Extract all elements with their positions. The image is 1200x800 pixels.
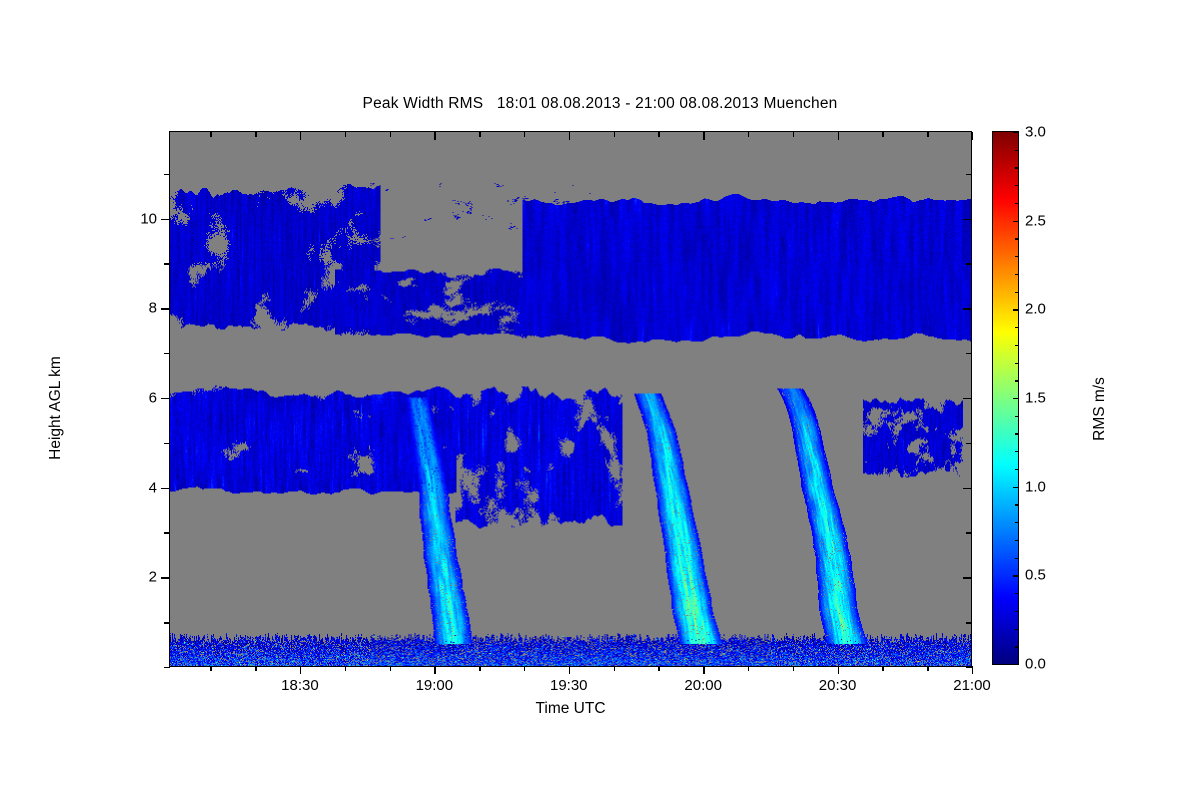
x-minor-tick	[524, 666, 525, 671]
y-minor-tick	[164, 353, 170, 354]
x-minor-tick	[614, 666, 615, 671]
y-minor-tick-right	[966, 667, 972, 668]
colorbar-tick-label: 1.0	[1025, 478, 1046, 495]
x-tick-label: 20:30	[819, 677, 857, 694]
colorbar-minor-tick	[1015, 292, 1019, 293]
x-tick-label: 19:00	[416, 677, 454, 694]
y-tick-label: 8	[123, 300, 157, 317]
x-tick-label: 20:00	[684, 677, 722, 694]
colorbar-major-tick	[1013, 309, 1019, 310]
y-major-tick-right	[963, 219, 972, 220]
colorbar-minor-tick	[1015, 256, 1019, 257]
colorbar-minor-tick	[1015, 504, 1019, 505]
x-minor-tick	[882, 666, 883, 671]
colorbar-minor-tick	[1015, 611, 1019, 612]
y-major-tick	[161, 219, 170, 220]
x-minor-tick-top	[658, 132, 659, 137]
x-minor-tick-top	[524, 132, 525, 137]
x-minor-tick-top	[882, 132, 883, 137]
chart-title: Peak Width RMS 18:01 08.08.2013 - 21:00 …	[0, 95, 1200, 113]
y-minor-tick-right	[966, 263, 972, 264]
colorbar-major-tick	[1013, 221, 1019, 222]
x-minor-tick	[793, 666, 794, 671]
x-major-tick-top	[300, 132, 301, 140]
x-minor-tick	[658, 666, 659, 671]
y-minor-tick-right	[966, 622, 972, 623]
colorbar-tick-label: 3.0	[1025, 124, 1046, 141]
heatmap-canvas	[170, 132, 971, 666]
colorbar-minor-tick	[1015, 274, 1019, 275]
colorbar-minor-tick	[1015, 646, 1019, 647]
y-minor-tick-right	[966, 174, 972, 175]
y-major-tick-right	[963, 577, 972, 578]
y-tick-label: 6	[123, 389, 157, 406]
x-minor-tick	[345, 666, 346, 671]
x-tick-label: 19:30	[550, 677, 588, 694]
x-minor-tick	[927, 666, 928, 671]
y-minor-tick	[164, 622, 170, 623]
colorbar-minor-tick	[1015, 185, 1019, 186]
y-minor-tick-right	[966, 353, 972, 354]
colorbar-minor-tick	[1015, 150, 1019, 151]
figure-root: Peak Width RMS 18:01 08.08.2013 - 21:00 …	[0, 0, 1200, 800]
colorbar-tick-label: 1.5	[1025, 390, 1046, 407]
y-minor-tick	[164, 532, 170, 533]
x-major-tick-top	[838, 132, 839, 140]
colorbar-minor-tick	[1015, 558, 1019, 559]
colorbar-minor-tick	[1015, 629, 1019, 630]
x-minor-tick	[748, 666, 749, 671]
colorbar-tick-label: 2.0	[1025, 301, 1046, 318]
colorbar-title: RMS m/s	[1091, 319, 1109, 499]
colorbar-major-tick	[1013, 487, 1019, 488]
colorbar-minor-tick	[1015, 469, 1019, 470]
x-minor-tick-top	[927, 132, 928, 137]
colorbar-tick-label: 0.0	[1025, 656, 1046, 673]
y-minor-tick	[164, 174, 170, 175]
x-major-tick	[703, 666, 704, 674]
y-major-tick	[161, 577, 170, 578]
colorbar-minor-tick	[1015, 593, 1019, 594]
colorbar-major-tick	[1013, 398, 1019, 399]
y-major-tick	[161, 398, 170, 399]
y-minor-tick-right	[966, 532, 972, 533]
x-major-tick	[838, 666, 839, 674]
colorbar-major-tick	[1013, 575, 1019, 576]
y-minor-tick	[164, 667, 170, 668]
x-axis-title: Time UTC	[169, 700, 972, 718]
colorbar-minor-tick	[1015, 238, 1019, 239]
colorbar-minor-tick	[1015, 451, 1019, 452]
x-major-tick-top	[972, 132, 973, 140]
x-minor-tick-top	[390, 132, 391, 137]
y-major-tick-right	[963, 398, 972, 399]
y-major-tick	[161, 308, 170, 309]
y-tick-label: 4	[123, 479, 157, 496]
plot-area	[169, 131, 972, 667]
x-major-tick-top	[434, 132, 435, 140]
x-minor-tick-top	[614, 132, 615, 137]
x-major-tick	[972, 666, 973, 674]
x-minor-tick	[479, 666, 480, 671]
colorbar-minor-tick	[1015, 167, 1019, 168]
colorbar-tick-label: 0.5	[1025, 567, 1046, 584]
x-major-tick	[300, 666, 301, 674]
colorbar-minor-tick	[1015, 540, 1019, 541]
colorbar-major-tick	[1013, 132, 1019, 133]
colorbar-minor-tick	[1015, 416, 1019, 417]
y-tick-label: 2	[123, 569, 157, 586]
y-major-tick-right	[963, 308, 972, 309]
y-tick-label: 10	[123, 210, 157, 227]
x-major-tick-top	[569, 132, 570, 140]
y-axis-title: Height AGL km	[47, 308, 65, 508]
x-minor-tick-top	[255, 132, 256, 137]
x-minor-tick	[210, 666, 211, 671]
y-major-tick-right	[963, 488, 972, 489]
y-minor-tick-right	[966, 443, 972, 444]
x-major-tick	[434, 666, 435, 674]
colorbar-minor-tick	[1015, 380, 1019, 381]
x-major-tick	[569, 666, 570, 674]
colorbar-minor-tick	[1015, 522, 1019, 523]
colorbar-minor-tick	[1015, 203, 1019, 204]
colorbar-minor-tick	[1015, 363, 1019, 364]
x-minor-tick-top	[345, 132, 346, 137]
x-minor-tick-top	[793, 132, 794, 137]
colorbar-minor-tick	[1015, 433, 1019, 434]
colorbar-minor-tick	[1015, 345, 1019, 346]
x-tick-label: 18:30	[281, 677, 319, 694]
colorbar-major-tick	[1013, 664, 1019, 665]
x-major-tick-top	[703, 132, 704, 140]
y-minor-tick	[164, 443, 170, 444]
colorbar-minor-tick	[1015, 327, 1019, 328]
x-minor-tick	[390, 666, 391, 671]
y-major-tick	[161, 488, 170, 489]
x-minor-tick-top	[748, 132, 749, 137]
y-minor-tick	[164, 263, 170, 264]
colorbar-tick-label: 2.5	[1025, 212, 1046, 229]
x-minor-tick-top	[210, 132, 211, 137]
x-minor-tick	[255, 666, 256, 671]
x-minor-tick-top	[479, 132, 480, 137]
x-tick-label: 21:00	[953, 677, 991, 694]
